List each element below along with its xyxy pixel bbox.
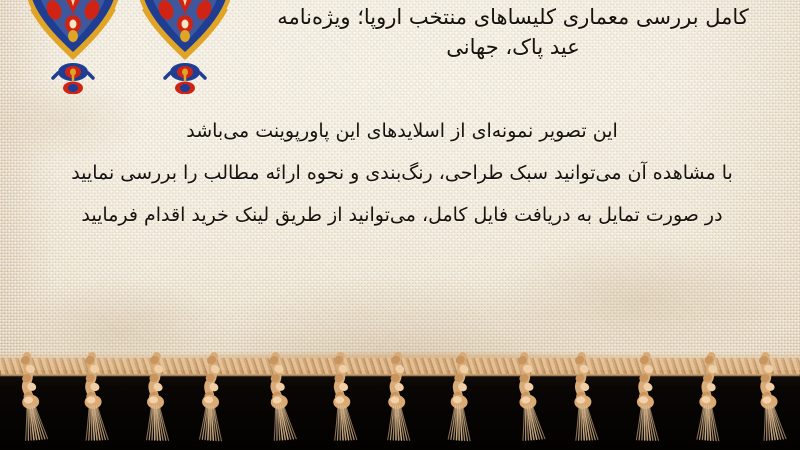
persian-medallion-ornament-left (14, 0, 132, 94)
slide-body: این تصویر نمونه‌ای از اسلایدهای این پاور… (20, 110, 784, 236)
carpet-fringe-tassels (0, 352, 800, 450)
slide-body-line-3: در صورت تمایل به دریافت فایل کامل، می‌تو… (20, 194, 784, 236)
slide-title-line-1: کامل بررسی معماری کلیساهای منتخب اروپا؛ … (277, 5, 749, 29)
slide-title: کامل بررسی معماری کلیساهای منتخب اروپا؛ … (235, 2, 791, 62)
persian-medallion-ornament-right (126, 0, 244, 94)
slide-title-line-2: عید پاک، جهانی (446, 35, 579, 59)
slide-canvas: کامل بررسی معماری کلیساهای منتخب اروپا؛ … (0, 0, 800, 450)
slide-body-line-1: این تصویر نمونه‌ای از اسلایدهای این پاور… (20, 110, 784, 152)
slide-body-line-2: با مشاهده آن می‌توانید سبک طراحی، رنگ‌بن… (20, 152, 784, 194)
